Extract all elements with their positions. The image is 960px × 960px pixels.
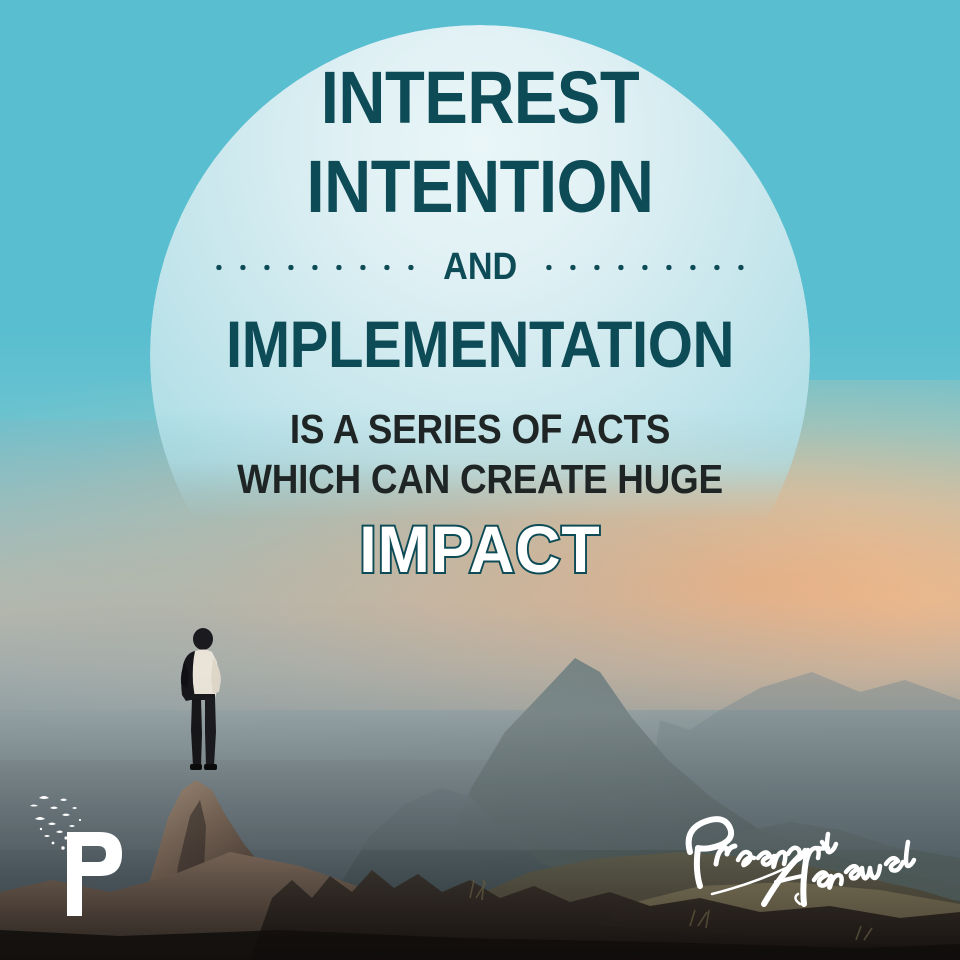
signature-script: [672, 798, 942, 908]
subtext-line-2: WHICH CAN CREATE HUGE: [48, 458, 912, 501]
dotted-rule-right: [535, 264, 755, 271]
headline-line-1: INTEREST: [58, 62, 903, 133]
quote-poster: INTEREST INTENTION AND IMPLEMENTATION IS…: [0, 0, 960, 960]
emphasis-line: IMPLEMENTATION: [58, 313, 903, 376]
quote-text-block: INTEREST INTENTION AND IMPLEMENTATION IS…: [0, 0, 960, 587]
connector-row: AND: [0, 246, 960, 289]
connector-label: AND: [443, 246, 517, 289]
keyword-impact: IMPACT: [24, 511, 936, 587]
brand-logo[interactable]: [22, 788, 132, 918]
artist-signature: [672, 798, 942, 908]
man-silhouette: [168, 628, 238, 776]
p-logo-icon: [22, 788, 132, 918]
subtext-line-1: IS A SERIES OF ACTS: [48, 408, 912, 451]
dotted-rule-left: [205, 264, 425, 271]
headline-line-2: INTENTION: [58, 151, 903, 222]
